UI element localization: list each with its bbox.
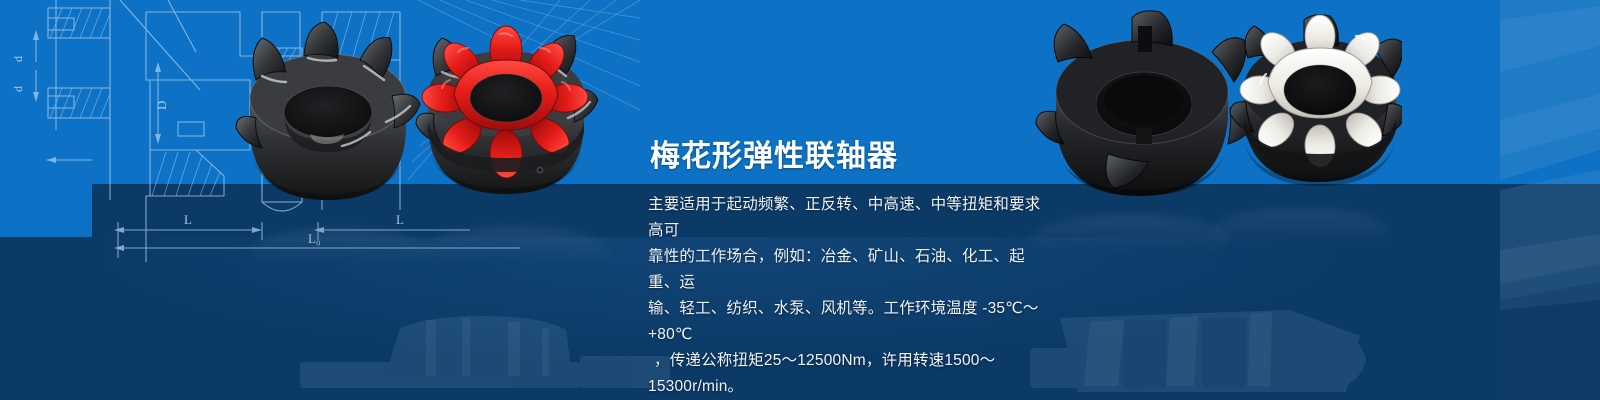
blueprint-label-L-left: L — [184, 212, 192, 227]
page-title: 梅花形弹性联轴器 — [650, 139, 898, 175]
product-banner: L L L₀ D D₁ d d — [0, 0, 1600, 400]
blueprint-label-D: D — [154, 101, 169, 110]
product-photo-right-pair — [1022, 8, 1402, 233]
coupling-with-white-spider — [1230, 15, 1402, 186]
description-line: 主要适用于起动频繁、正反转、中高速、中等扭矩和要求高可 — [648, 192, 1052, 244]
coupling-hub-black-large — [1036, 11, 1256, 196]
background-machinery-ghost-right — [1020, 300, 1440, 400]
product-description: 主要适用于起动频繁、正反转、中高速、中等扭矩和要求高可 靠性的工作场合，例如：冶… — [648, 192, 1052, 400]
coupling-hub-black — [236, 22, 420, 200]
description-line: 靠性的工作场合，例如：冶金、矿山、石油、化工、起重、运 — [648, 244, 1052, 296]
description-line: 输、轻工、纺织、水泵、风机等。工作环境温度 -35℃～+80℃ — [648, 296, 1052, 348]
background-machinery-ghost-edge — [1500, 0, 1600, 400]
blueprint-label-d-lower: d — [11, 86, 25, 92]
blueprint-label-d-upper: d — [11, 56, 25, 62]
coupling-with-red-spider — [416, 26, 598, 194]
description-line: ，传递公称扭矩25～12500Nm，许用转速1500～15300r/min。 — [648, 348, 1052, 400]
product-photo-left-pair — [232, 18, 612, 248]
